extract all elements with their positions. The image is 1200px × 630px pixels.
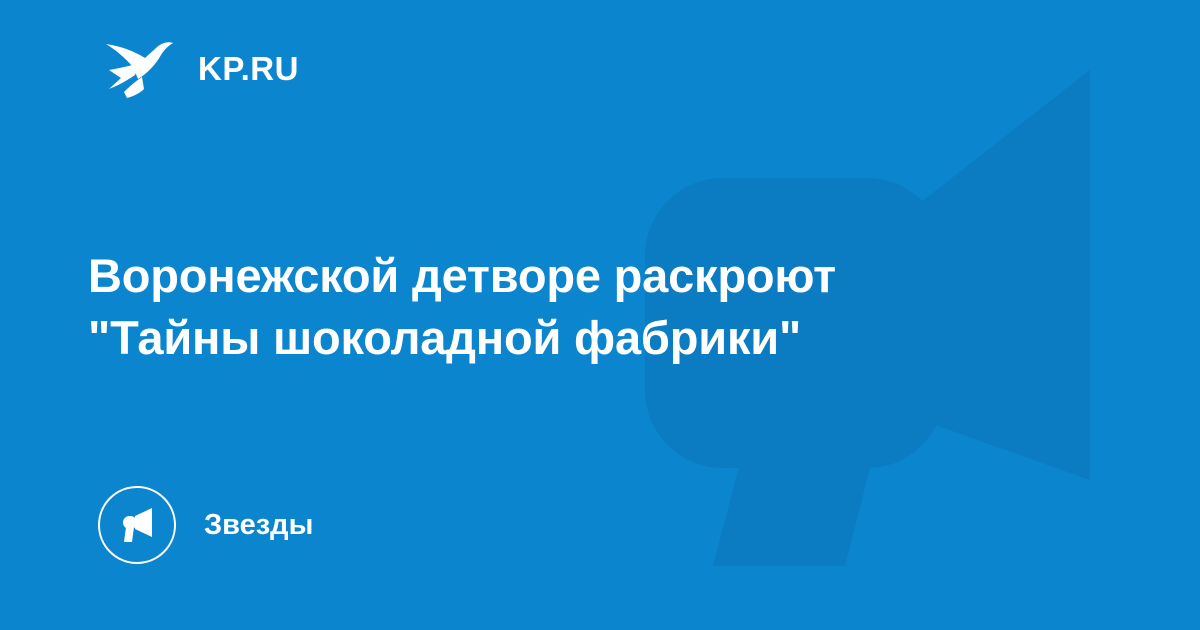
rubric-label: Звезды (204, 511, 313, 540)
brand-lockup[interactable]: KP.RU (104, 36, 299, 100)
brand-name: KP.RU (198, 52, 299, 85)
page-title: Воронежской детворе раскроют "Тайны шоко… (88, 245, 1048, 369)
swallow-bird-icon (104, 37, 176, 99)
megaphone-icon (98, 486, 176, 564)
social-share-card: KP.RU Воронежской детворе раскроют "Тайн… (0, 0, 1200, 630)
rubric-badge[interactable]: Звезды (98, 485, 313, 565)
